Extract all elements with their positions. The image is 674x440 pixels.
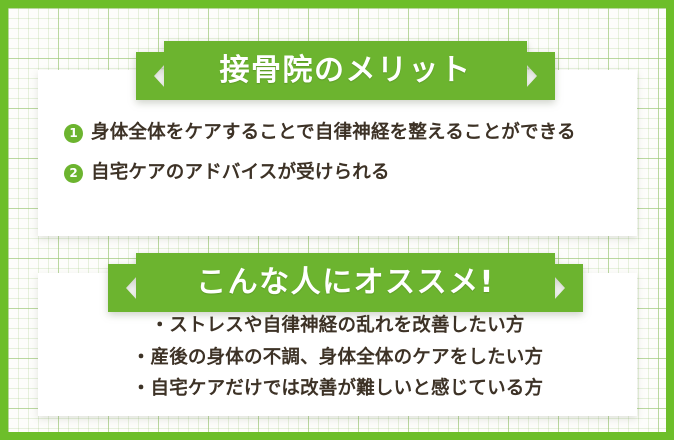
- recommend-ribbon-banner: こんな人にオススメ!: [108, 253, 583, 312]
- poster-root: 1 身体全体をケアすることで自律神経を整えることができる 2 自宅ケアのアドバイ…: [0, 0, 674, 440]
- bullet-marker-1: ・: [150, 315, 169, 336]
- merit-ribbon-banner: 接骨院のメリット: [136, 41, 555, 100]
- recommend-item-text-3: 自宅ケアだけでは改善が難しいと感じている方: [151, 378, 544, 399]
- recommend-item-text-2: 産後の身体の不調、身体全体のケアをしたい方: [151, 347, 544, 368]
- recommend-list: ・ストレスや自律神経の乱れを改善したい方 ・産後の身体の不調、身体全体のケアをし…: [38, 317, 637, 412]
- list-item: 2 自宅ケアのアドバイスが受けられる: [38, 162, 637, 184]
- recommend-item-text-1: ストレスや自律神経の乱れを改善したい方: [169, 315, 524, 336]
- list-item: ・産後の身体の不調、身体全体のケアをしたい方: [38, 349, 637, 368]
- list-item: ・ストレスや自律神経の乱れを改善したい方: [38, 317, 637, 336]
- list-item: ・自宅ケアだけでは改善が難しいと感じている方: [38, 380, 637, 399]
- merit-item-text-2: 自宅ケアのアドバイスが受けられる: [91, 162, 390, 184]
- recommend-ribbon-title: こんな人にオススメ!: [196, 268, 495, 298]
- merit-item-text-1: 身体全体をケアすることで自律神経を整えることができる: [91, 122, 576, 144]
- list-item: 1 身体全体をケアすることで自律神経を整えることができる: [38, 122, 637, 144]
- merit-ribbon-title: 接骨院のメリット: [220, 56, 472, 86]
- bullet-marker-3: ・: [132, 378, 151, 399]
- number-badge-2: 2: [64, 164, 83, 183]
- bullet-marker-2: ・: [132, 347, 151, 368]
- merit-list: 1 身体全体をケアすることで自律神経を整えることができる 2 自宅ケアのアドバイ…: [38, 122, 637, 202]
- number-badge-1: 1: [64, 124, 83, 143]
